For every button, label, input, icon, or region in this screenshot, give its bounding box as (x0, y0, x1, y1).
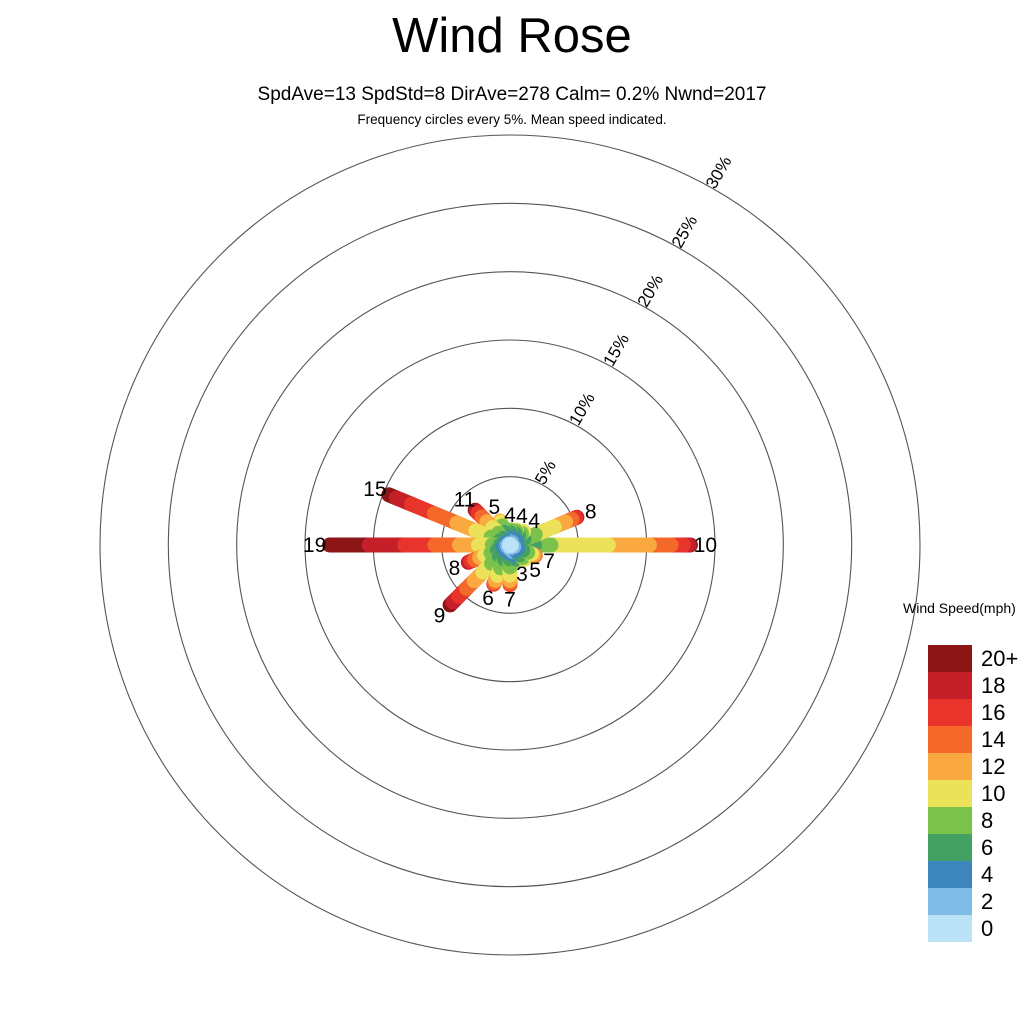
petal-mean-speed-label: 7 (504, 589, 516, 612)
petal-mean-speed-label: 3 (516, 563, 528, 586)
legend-label: 16 (981, 699, 1005, 726)
legend-item[interactable]: 12 (928, 753, 1018, 780)
legend-label: 4 (981, 861, 993, 888)
petal-mean-speed-label: 7 (543, 550, 555, 573)
legend-swatch (928, 915, 972, 942)
legend-swatch (928, 672, 972, 699)
petal-mean-speed-label: 8 (585, 501, 597, 524)
petal-segment (510, 545, 511, 546)
petal-mean-speed-label: 10 (694, 534, 717, 557)
legend-swatch (928, 807, 972, 834)
ring-label-5: 5% (531, 457, 560, 488)
ring-labels: 5%10%15%20%25%30% (531, 153, 735, 488)
legend-swatch (928, 888, 972, 915)
legend-item[interactable]: 14 (928, 726, 1018, 753)
legend-label: 12 (981, 753, 1005, 780)
legend-swatch (928, 726, 972, 753)
petal-mean-speed-label: 15 (363, 478, 386, 501)
ring-label-15: 15% (600, 330, 633, 369)
legend-item[interactable]: 18 (928, 672, 1018, 699)
legend-label: 20+ (981, 645, 1018, 672)
petal-mean-speed-label: 5 (529, 559, 541, 582)
wind-rose-figure: Wind Rose SpdAve=13 SpdStd=8 DirAve=278 … (0, 0, 1024, 1024)
legend-swatch (928, 753, 972, 780)
wind-rose-plot: 5%10%15%20%25%30% 10844451115198967357 (0, 0, 1024, 1024)
legend-item[interactable]: 2 (928, 888, 1018, 915)
legend-title: Wind Speed(mph) (903, 600, 1016, 616)
legend-label: 0 (981, 915, 993, 942)
legend-item[interactable]: 16 (928, 699, 1018, 726)
ring-label-25: 25% (668, 212, 701, 251)
legend-label: 18 (981, 672, 1005, 699)
legend-swatch (928, 699, 972, 726)
ring-label-10: 10% (565, 390, 598, 429)
legend-label: 6 (981, 834, 993, 861)
petal-mean-speed-label: 8 (449, 557, 461, 580)
ring-label-20: 20% (634, 271, 667, 310)
legend-swatch (928, 780, 972, 807)
petal-mean-speed-label: 5 (488, 496, 500, 519)
petal-mean-speed-label: 9 (434, 605, 446, 628)
petal-mean-speed-label: 19 (303, 534, 326, 557)
legend-label: 2 (981, 888, 993, 915)
petal-mean-speed-label: 6 (482, 587, 494, 610)
petal-mean-speed-label: 4 (528, 510, 540, 533)
legend-swatch (928, 645, 972, 672)
legend-swatch (928, 834, 972, 861)
legend-item[interactable]: 20+ (928, 645, 1018, 672)
legend-label: 10 (981, 780, 1005, 807)
legend-item[interactable]: 6 (928, 834, 1018, 861)
petal-mean-speed-label: 4 (516, 505, 528, 528)
legend-swatch (928, 861, 972, 888)
legend-item[interactable]: 8 (928, 807, 1018, 834)
petal-mean-speed-label: 11 (454, 489, 476, 512)
legend-label: 8 (981, 807, 993, 834)
legend-item[interactable]: 10 (928, 780, 1018, 807)
legend-label: 14 (981, 726, 1005, 753)
legend-item[interactable]: 4 (928, 861, 1018, 888)
legend-item[interactable]: 0 (928, 915, 1018, 942)
legend-swatches: 20+181614121086420 (928, 645, 1018, 942)
petal-mean-speed-label: 4 (504, 504, 516, 527)
ring-label-30: 30% (702, 153, 735, 192)
